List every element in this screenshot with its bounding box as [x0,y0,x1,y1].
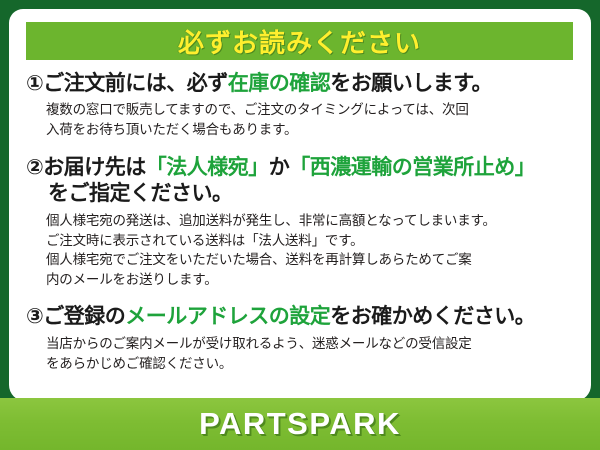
item-3-heading-highlight: メールアドレスの設定 [125,305,330,328]
item-3-body-line-1: 当店からのご案内メールが受け取れるよう、迷惑メールなどの受信設定 [46,334,582,354]
item-2-heading-part-3: か [269,156,290,179]
item-1-heading-highlight: 在庫の確認 [228,72,331,95]
notice-content: ①ご注文前には、必ず在庫の確認をお願いします。 複数の窓口で販売してますので、ご… [26,67,582,375]
item-1-heading-part-1: ①ご注文前には、必ず [26,72,228,95]
item-1-body-line-2: 入荷をお待ち頂いただく場合もあります。 [46,120,582,140]
item-2-heading-highlight-2: 「西濃運輸の営業所止め」 [289,156,535,179]
item-3-body: 当店からのご案内メールが受け取れるよう、迷惑メールなどの受信設定 をあらかじめご… [26,330,582,373]
item-1-heading-part-3: をお願いします。 [330,72,492,95]
white-panel: 必ずお読みください ①ご注文前には、必ず在庫の確認をお願いします。 複数の窓口で… [9,9,591,401]
brand-logo-text: PARTSPARK [199,406,401,442]
item-2-body-line-2: ご注文時に表示されている送料は「法人送料」です。 [46,231,582,251]
item-2-heading-highlight-1: 「法人様宛」 [146,156,269,179]
item-2-body-line-3: 個人様宅宛でご注文をいただいた場合、送料を再計算しあらためてご案 [46,250,582,270]
item-1-heading: ①ご注文前には、必ず在庫の確認をお願いします。 [26,71,582,97]
item-3-heading-part-3: をお確かめください。 [330,305,535,328]
item-1-body: 複数の窓口で販売してますので、ご注文のタイミングによっては、次回 入荷をお待ち頂… [26,97,582,139]
header-band: 必ずお読みください [26,22,573,60]
item-2-heading-part-1: ②お届け先は [26,156,146,179]
notice-item-3: ③ご登録のメールアドレスの設定をお確かめください。 当店からのご案内メールが受け… [26,291,582,373]
item-2-heading-line-2: をご指定ください。 [26,181,582,207]
item-2-body-line-4: 内のメールをお送りします。 [46,270,582,290]
item-2-body: 個人様宅宛の発送は、追加送料が発生し、非常に高額となってしまいます。 ご注文時に… [26,207,582,289]
notice-item-2: ②お届け先は「法人様宛」か「西濃運輸の営業所止め」 をご指定ください。 個人様宅… [26,141,582,289]
item-3-heading-part-1: ③ご登録の [26,305,125,328]
footer-band: PARTSPARK [0,398,600,450]
item-2-body-line-1: 個人様宅宛の発送は、追加送料が発生し、非常に高額となってしまいます。 [46,211,582,231]
notice-banner: 必ずお読みください ①ご注文前には、必ず在庫の確認をお願いします。 複数の窓口で… [0,0,600,450]
item-1-body-line-1: 複数の窓口で販売してますので、ご注文のタイミングによっては、次回 [46,100,582,120]
item-2-heading: ②お届け先は「法人様宛」か「西濃運輸の営業所止め」 をご指定ください。 [26,155,582,207]
item-3-heading: ③ご登録のメールアドレスの設定をお確かめください。 [26,304,582,330]
item-3-body-line-2: をあらかじめご確認ください。 [46,354,582,374]
notice-item-1: ①ご注文前には、必ず在庫の確認をお願いします。 複数の窓口で販売してますので、ご… [26,67,582,139]
header-title: 必ずお読みください [178,23,421,60]
